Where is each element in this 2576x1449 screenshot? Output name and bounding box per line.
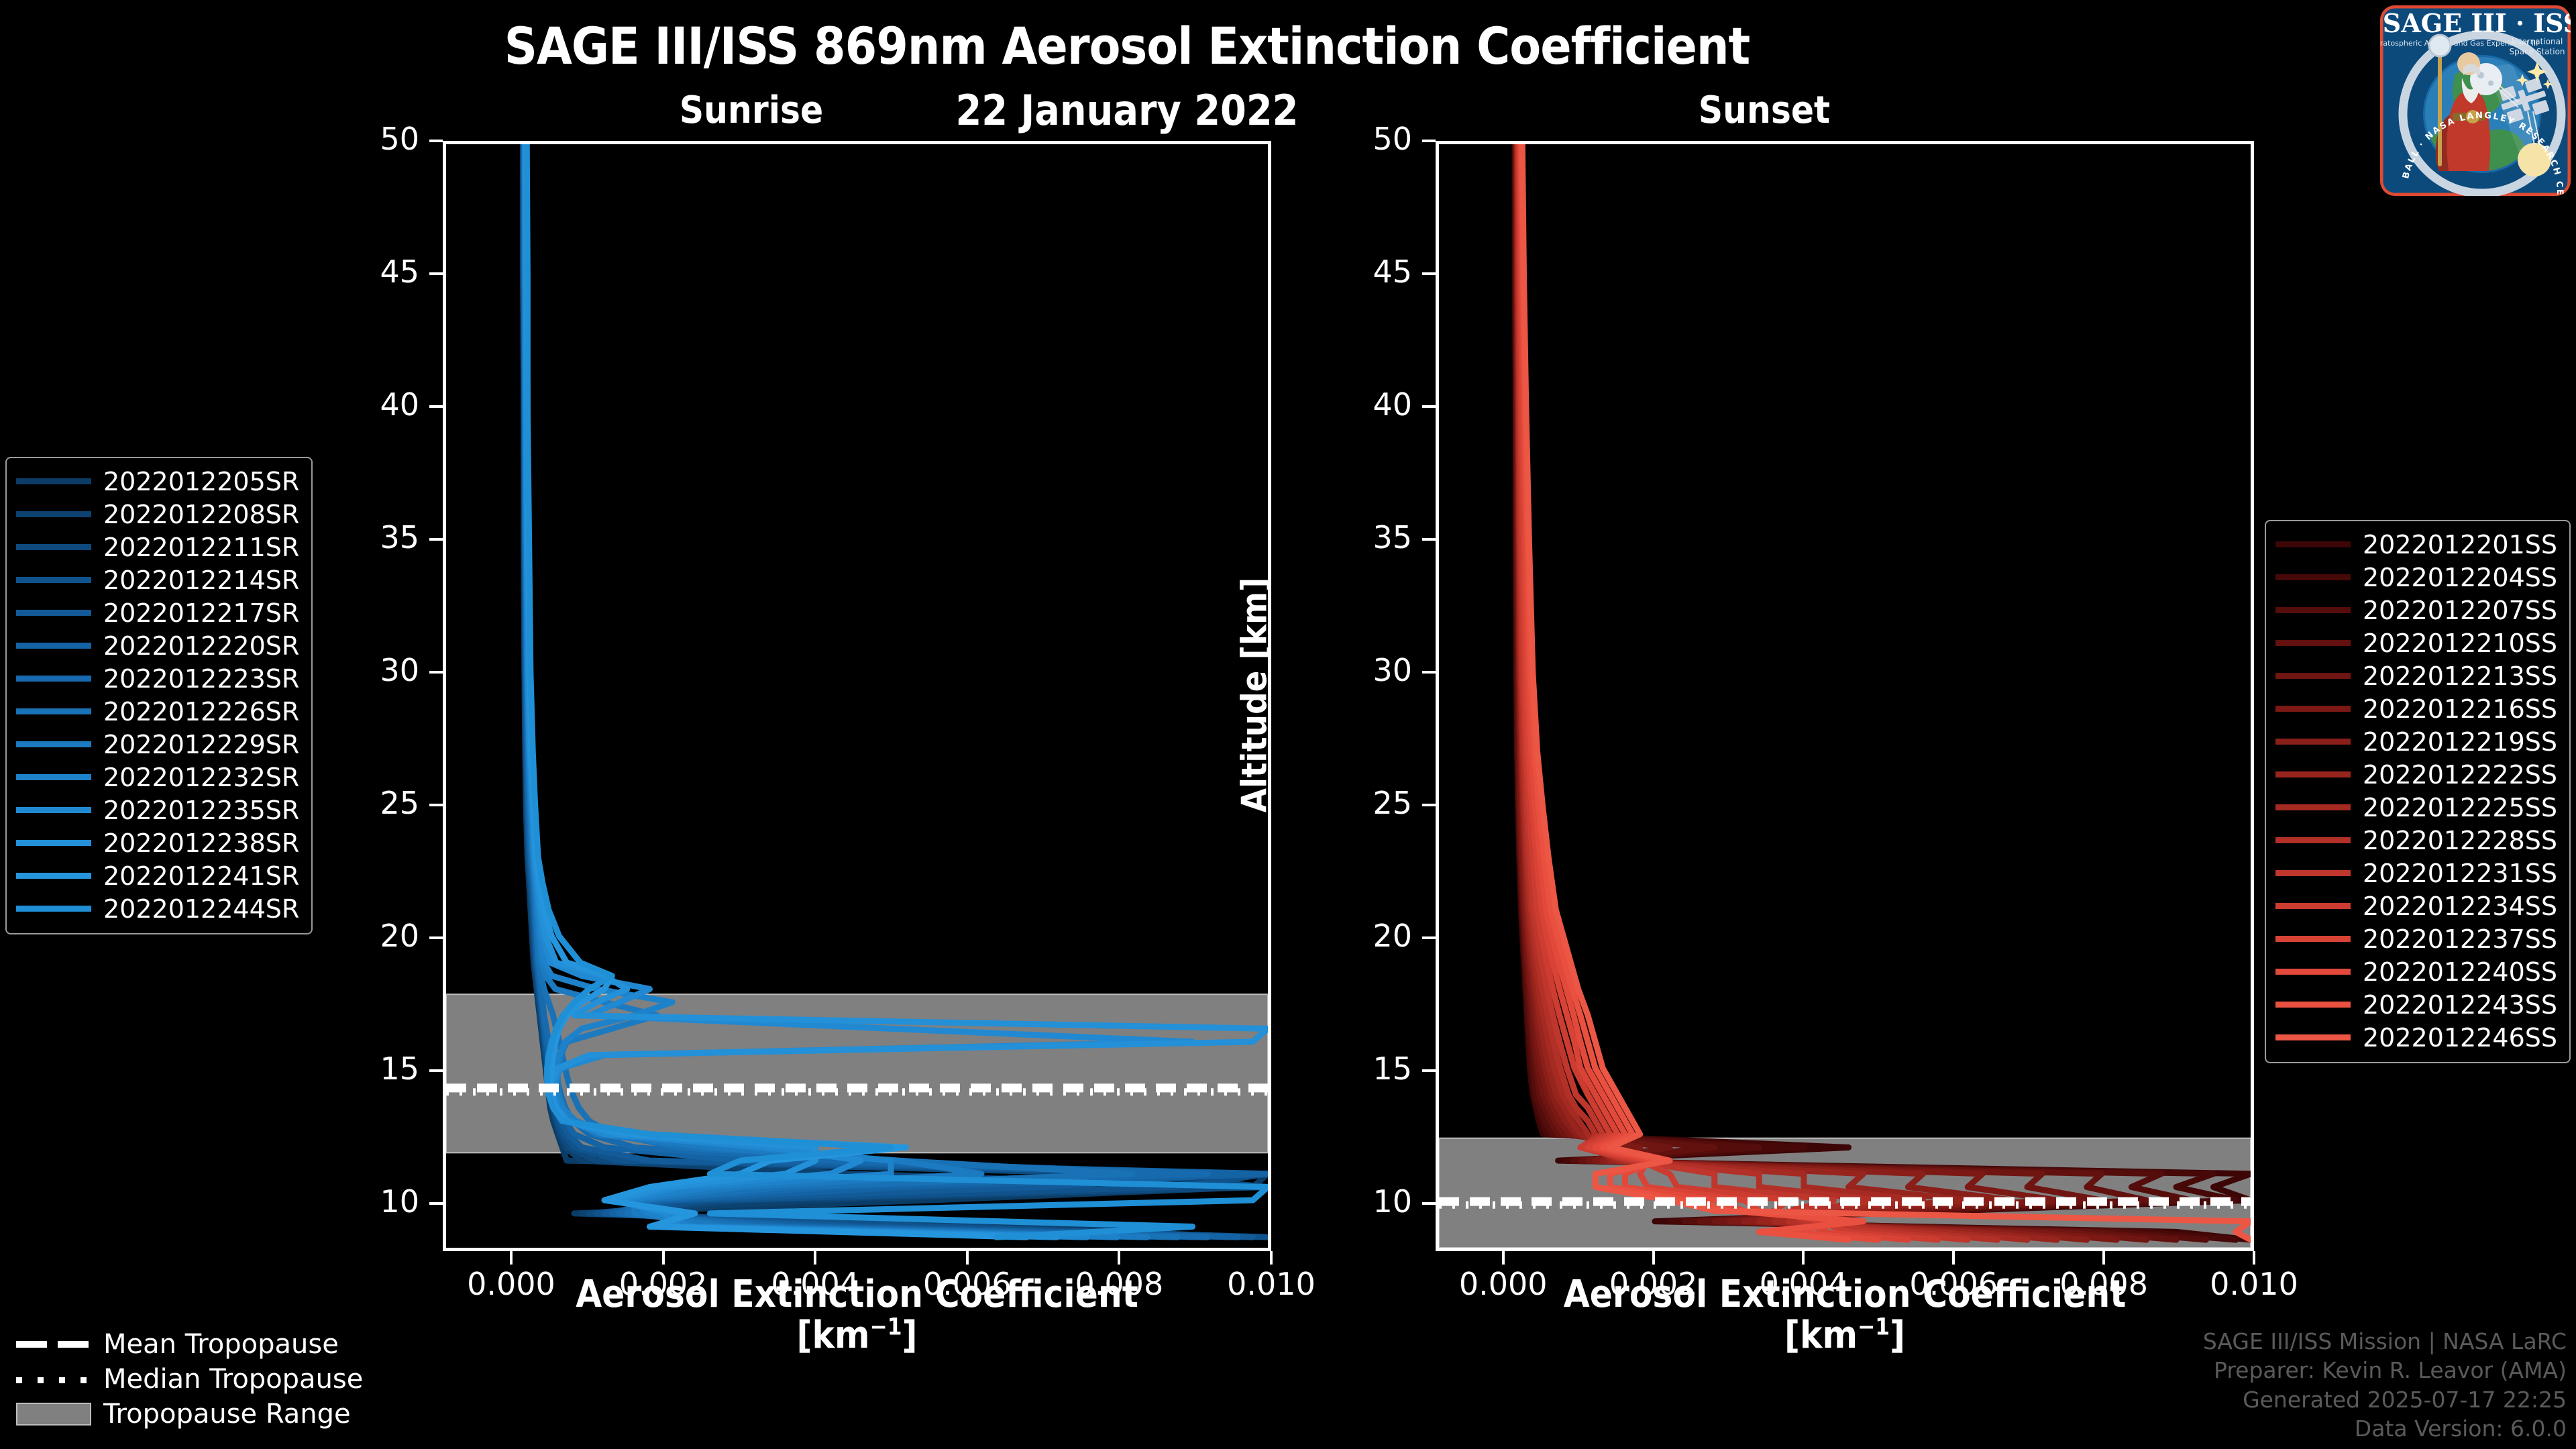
y-tick-label-15: 15	[312, 1051, 419, 1087]
legend-label-2022012201SS: 2022012201SS	[2363, 530, 2557, 559]
legend-item-2022012213SS[interactable]: 2022012213SS	[2275, 659, 2557, 692]
legend-item-mean-tropopause: Mean Tropopause	[16, 1327, 363, 1362]
profile-line-2022012207SS	[1515, 144, 2206, 1240]
y-tick-mark-10	[1422, 1202, 1436, 1205]
y-tick-mark-25	[1422, 804, 1436, 806]
legend-color-swatch	[16, 643, 91, 649]
sunrise-profile-svg	[446, 144, 1268, 1248]
y-tick-label-40: 40	[1305, 386, 1412, 423]
legend-label-median-tropopause: Median Tropopause	[103, 1364, 363, 1395]
legend-color-swatch	[2275, 607, 2351, 613]
legend-label-2022012207SS: 2022012207SS	[2363, 596, 2557, 625]
x-tick-mark-0.004	[1802, 1251, 1805, 1265]
legend-label-2022012219SS: 2022012219SS	[2363, 727, 2557, 757]
dashed-line-icon	[16, 1337, 91, 1352]
legend-item-2022012241SR[interactable]: 2022012241SR	[16, 859, 299, 892]
profile-line-2022012213SS	[1516, 144, 2146, 1240]
y-tick-mark-20	[429, 936, 443, 939]
sunset-profile-svg	[1439, 144, 2251, 1248]
legend-label-2022012214SR: 2022012214SR	[103, 566, 299, 595]
legend-item-2022012237SS[interactable]: 2022012237SS	[2275, 922, 2557, 955]
legend-item-2022012216SS[interactable]: 2022012216SS	[2275, 692, 2557, 725]
legend-label-2022012228SS: 2022012228SS	[2363, 826, 2557, 855]
profile-line-2022012243SS	[1521, 144, 1864, 1240]
legend-label-2022012226SR: 2022012226SR	[103, 697, 299, 727]
legend-label-mean-tropopause: Mean Tropopause	[103, 1329, 339, 1360]
y-tick-mark-25	[429, 804, 443, 806]
legend-item-2022012219SS[interactable]: 2022012219SS	[2275, 725, 2557, 758]
profile-line-2022012210SS	[1515, 144, 2176, 1240]
sunset-x-axis-label: Aerosol Extinction Coefficient [km−1]	[1436, 1275, 2254, 1356]
legend-color-swatch	[16, 873, 91, 879]
legend-color-swatch	[2275, 969, 2351, 975]
y-tick-mark-15	[1422, 1069, 1436, 1072]
legend-item-2022012225SS[interactable]: 2022012225SS	[2275, 791, 2557, 824]
legend-item-2022012228SS[interactable]: 2022012228SS	[2275, 824, 2557, 857]
x-tick-mark-0.002	[662, 1251, 665, 1265]
y-tick-mark-20	[1422, 936, 1436, 939]
y-tick-label-20: 20	[1305, 918, 1412, 954]
legend-label-2022012240SS: 2022012240SS	[2363, 957, 2557, 987]
profile-line-2022012201SS	[1515, 144, 2251, 1240]
y-tick-label-50: 50	[1305, 121, 1412, 157]
x-tick-mark-0.008	[2102, 1251, 2105, 1265]
legend-item-2022012220SR[interactable]: 2022012220SR	[16, 629, 299, 662]
page-title: SAGE III/ISS 869nm Aerosol Extinction Co…	[0, 16, 2254, 76]
footer-line-dataversion: Data Version: 6.0.0	[2203, 1414, 2567, 1444]
legend-color-swatch	[2275, 574, 2351, 580]
logo-title: SAGE III · ISS	[2383, 8, 2576, 38]
legend-label-2022012211SR: 2022012211SR	[103, 533, 299, 562]
x-tick-mark-0.000	[1502, 1251, 1505, 1265]
dotted-line-icon	[16, 1372, 91, 1387]
y-tick-mark-30	[1422, 671, 1436, 674]
y-tick-label-25: 25	[312, 785, 419, 821]
legend-label-tropopause-range: Tropopause Range	[103, 1399, 351, 1430]
legend-item-2022012205SR[interactable]: 2022012205SR	[16, 465, 299, 498]
footer-line-generated: Generated 2025-07-17 22:25	[2203, 1385, 2567, 1415]
profile-line-2022012246SS	[1522, 144, 2251, 1240]
y-tick-label-35: 35	[312, 519, 419, 555]
legend-item-2022012208SR[interactable]: 2022012208SR	[16, 498, 299, 531]
legend-color-swatch	[16, 774, 91, 780]
legend-color-swatch	[16, 511, 91, 517]
legend-color-swatch	[16, 676, 91, 682]
legend-label-2022012213SS: 2022012213SS	[2363, 661, 2557, 691]
y-tick-mark-30	[429, 671, 443, 674]
logo-subtitle-right-2: Space Station	[2509, 47, 2565, 56]
legend-color-swatch	[2275, 804, 2351, 810]
y-tick-label-15: 15	[1305, 1051, 1412, 1087]
legend-color-swatch	[16, 478, 91, 484]
legend-label-2022012241SR: 2022012241SR	[103, 861, 299, 891]
y-tick-label-30: 30	[1305, 652, 1412, 688]
mission-patch-svg: BALL · NASA LANGLEY RESEARCH CENTER · TA…	[2355, 0, 2576, 201]
legend-item-2022012211SR[interactable]: 2022012211SR	[16, 531, 299, 563]
legend-color-swatch	[2275, 739, 2351, 745]
y-tick-label-45: 45	[1305, 254, 1412, 290]
legend-color-swatch	[16, 807, 91, 813]
y-tick-mark-50	[429, 140, 443, 142]
y-tick-label-30: 30	[312, 652, 419, 688]
legend-label-2022012229SR: 2022012229SR	[103, 730, 299, 759]
legend-color-swatch	[2275, 673, 2351, 679]
legend-label-2022012234SS: 2022012234SS	[2363, 892, 2557, 921]
footer-line-mission: SAGE III/ISS Mission | NASA LaRC	[2203, 1327, 2567, 1356]
x-tick-mark-0.002	[1652, 1251, 1655, 1265]
legend-color-swatch	[2275, 870, 2351, 876]
x-tick-mark-0.006	[966, 1251, 969, 1265]
legend-color-swatch	[16, 610, 91, 616]
y-tick-mark-40	[429, 405, 443, 408]
profile-line-2022012240SS	[1521, 144, 1878, 1240]
sunrise-plot-area	[443, 141, 1271, 1251]
legend-color-swatch	[2275, 771, 2351, 777]
sunrise-x-axis-unit: [km−1]	[797, 1313, 918, 1357]
y-tick-label-50: 50	[312, 121, 419, 157]
legend-label-2022012210SS: 2022012210SS	[2363, 629, 2557, 658]
y-tick-mark-35	[429, 538, 443, 541]
gray-band-icon	[16, 1403, 91, 1426]
y-tick-mark-15	[429, 1069, 443, 1072]
legend-color-swatch	[16, 577, 91, 583]
legend-label-2022012205SR: 2022012205SR	[103, 467, 299, 496]
legend-color-swatch	[16, 544, 91, 550]
y-tick-label-20: 20	[312, 918, 419, 954]
legend-color-swatch	[2275, 706, 2351, 712]
sunrise-x-axis-label: Aerosol Extinction Coefficient [km−1]	[443, 1275, 1271, 1356]
sunset-panel-title: Sunset	[1603, 89, 1925, 132]
sunset-plot-area	[1436, 141, 2254, 1251]
legend-item-2022012201SS[interactable]: 2022012201SS	[2275, 528, 2557, 561]
legend-item-2022012234SS[interactable]: 2022012234SS	[2275, 890, 2557, 922]
legend-color-swatch	[2275, 837, 2351, 843]
legend-label-2022012231SS: 2022012231SS	[2363, 859, 2557, 888]
y-tick-label-10: 10	[1305, 1183, 1412, 1220]
y-tick-mark-45	[429, 272, 443, 275]
sunset-legend[interactable]: 2022012201SS2022012204SS2022012207SS2022…	[2265, 520, 2571, 1063]
legend-item-2022012226SR[interactable]: 2022012226SR	[16, 695, 299, 728]
legend-item-2022012204SS[interactable]: 2022012204SS	[2275, 561, 2557, 594]
legend-label-2022012235SR: 2022012235SR	[103, 796, 299, 825]
legend-label-2022012237SS: 2022012237SS	[2363, 924, 2557, 954]
legend-label-2022012225SS: 2022012225SS	[2363, 793, 2557, 822]
legend-item-median-tropopause: Median Tropopause	[16, 1362, 363, 1397]
legend-item-2022012246SS[interactable]: 2022012246SS	[2275, 1021, 2557, 1054]
legend-item-2022012214SR[interactable]: 2022012214SR	[16, 563, 299, 596]
legend-label-2022012204SS: 2022012204SS	[2363, 563, 2557, 592]
y-tick-label-25: 25	[1305, 785, 1412, 821]
legend-color-swatch	[16, 741, 91, 747]
y-tick-mark-35	[1422, 538, 1436, 541]
legend-label-2022012246SS: 2022012246SS	[2363, 1023, 2557, 1053]
legend-label-2022012238SR: 2022012238SR	[103, 828, 299, 858]
legend-color-swatch	[16, 840, 91, 846]
y-tick-mark-10	[429, 1202, 443, 1205]
legend-label-2022012222SS: 2022012222SS	[2363, 760, 2557, 790]
y-tick-mark-45	[1422, 272, 1436, 275]
sage-iii-iss-mission-patch-logo: BALL · NASA LANGLEY RESEARCH CENTER · TA…	[2355, 0, 2576, 201]
sunrise-panel-title: Sunrise	[590, 89, 912, 132]
legend-item-2022012210SS[interactable]: 2022012210SS	[2275, 627, 2557, 659]
legend-item-2022012235SR[interactable]: 2022012235SR	[16, 794, 299, 826]
x-tick-mark-0.004	[814, 1251, 816, 1265]
y-tick-label-40: 40	[312, 386, 419, 423]
x-tick-mark-0.008	[1118, 1251, 1120, 1265]
legend-item-tropopause-range: Tropopause Range	[16, 1397, 363, 1432]
legend-color-swatch	[2275, 640, 2351, 646]
legend-color-swatch	[2275, 541, 2351, 547]
y-tick-mark-40	[1422, 405, 1436, 408]
legend-item-2022012217SR[interactable]: 2022012217SR	[16, 596, 299, 629]
legend-item-2022012223SR[interactable]: 2022012223SR	[16, 662, 299, 695]
legend-label-2022012244SR: 2022012244SR	[103, 894, 299, 924]
legend-item-2022012240SS[interactable]: 2022012240SS	[2275, 955, 2557, 988]
y-tick-label-45: 45	[312, 254, 419, 290]
profile-line-2022012204SS	[1515, 144, 2236, 1240]
legend-label-2022012217SR: 2022012217SR	[103, 598, 299, 628]
legend-item-2022012222SS[interactable]: 2022012222SS	[2275, 758, 2557, 791]
tropopause-legend[interactable]: Mean Tropopause Median Tropopause Tropop…	[5, 1319, 376, 1441]
legend-item-2022012244SR[interactable]: 2022012244SR	[16, 892, 299, 925]
legend-item-2022012243SS[interactable]: 2022012243SS	[2275, 988, 2557, 1021]
sunset-x-axis-unit: [km−1]	[1784, 1313, 1905, 1357]
sunset-y-axis-label: Altitude [km]	[1234, 140, 1275, 1250]
y-tick-label-35: 35	[1305, 519, 1412, 555]
sunrise-x-axis-text: Aerosol Extinction Coefficient	[576, 1273, 1138, 1316]
footer-credits: SAGE III/ISS Mission | NASA LaRC Prepare…	[2203, 1327, 2567, 1444]
sunset-x-axis-text: Aerosol Extinction Coefficient	[1564, 1273, 2127, 1316]
legend-color-swatch	[16, 906, 91, 912]
legend-color-swatch	[2275, 1034, 2351, 1040]
legend-item-2022012231SS[interactable]: 2022012231SS	[2275, 857, 2557, 890]
footer-line-preparer: Preparer: Kevin R. Leavor (AMA)	[2203, 1356, 2567, 1385]
x-tick-mark-0.000	[510, 1251, 513, 1265]
legend-color-swatch	[2275, 1002, 2351, 1008]
x-tick-mark-0.010	[1270, 1251, 1273, 1265]
legend-label-2022012223SR: 2022012223SR	[103, 664, 299, 694]
legend-label-2022012216SS: 2022012216SS	[2363, 694, 2557, 724]
legend-label-2022012232SR: 2022012232SR	[103, 763, 299, 792]
legend-label-2022012208SR: 2022012208SR	[103, 500, 299, 529]
logo-subtitle-right-1: International	[2512, 37, 2563, 46]
x-tick-mark-0.010	[2253, 1251, 2255, 1265]
y-tick-mark-50	[1422, 140, 1436, 142]
legend-item-2022012232SR[interactable]: 2022012232SR	[16, 761, 299, 794]
legend-color-swatch	[16, 708, 91, 714]
legend-item-2022012238SR[interactable]: 2022012238SR	[16, 826, 299, 859]
legend-label-2022012243SS: 2022012243SS	[2363, 990, 2557, 1020]
sunrise-legend[interactable]: 2022012205SR2022012208SR2022012211SR2022…	[5, 457, 313, 934]
y-tick-label-10: 10	[312, 1183, 419, 1220]
legend-color-swatch	[2275, 936, 2351, 942]
legend-label-2022012220SR: 2022012220SR	[103, 631, 299, 661]
legend-color-swatch	[2275, 903, 2351, 909]
legend-item-2022012229SR[interactable]: 2022012229SR	[16, 728, 299, 761]
x-tick-mark-0.006	[1952, 1251, 1955, 1265]
legend-item-2022012207SS[interactable]: 2022012207SS	[2275, 594, 2557, 627]
